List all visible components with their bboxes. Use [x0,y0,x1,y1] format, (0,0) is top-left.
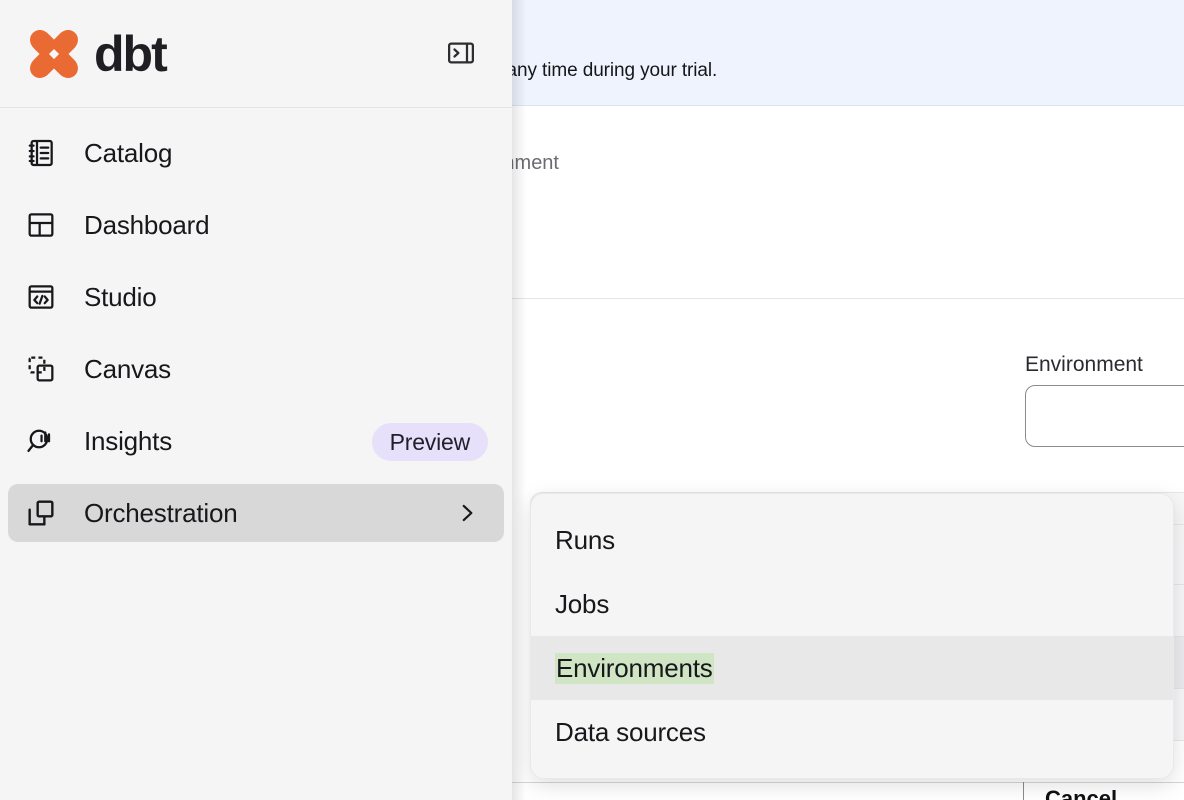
sidebar-nav: Catalog Dashboard [0,108,512,542]
dashboard-icon [24,208,58,242]
orchestration-icon [24,496,58,530]
submenu-item-label: Runs [555,525,615,556]
studio-code-icon [24,280,58,314]
orchestration-submenu: Runs Jobs Environments Data sources [530,493,1174,779]
canvas-icon [24,352,58,386]
footer-divider [1023,782,1024,800]
catalog-icon [24,136,58,170]
chevron-right-icon [454,500,480,526]
submenu-item-environments[interactable]: Environments [531,636,1173,700]
submenu-item-label: Jobs [555,589,609,620]
environment-field-label: Environment [1025,353,1184,377]
app-root: Starter Trial and sign up for a plan at … [0,0,1184,800]
sidebar-item-label: Studio [84,282,157,313]
brand[interactable]: dbt [24,24,166,84]
sidebar-item-insights[interactable]: Insights Preview [8,412,504,470]
sidebar-item-catalog[interactable]: Catalog [8,124,504,182]
insights-icon [24,424,58,458]
submenu-item-label: Environments [555,653,714,684]
sidebar-item-label: Dashboard [84,210,209,241]
sidebar-header: dbt [0,0,512,108]
sidebar: dbt [0,0,512,800]
sidebar-item-studio[interactable]: Studio [8,268,504,326]
brand-wordmark: dbt [94,29,166,79]
sidebar-item-label: Catalog [84,138,172,169]
sidebar-item-label: Orchestration [84,498,237,529]
submenu-item-jobs[interactable]: Jobs [531,572,1173,636]
sidebar-item-dashboard[interactable]: Dashboard [8,196,504,254]
panel-collapse-icon[interactable] [446,38,476,68]
sidebar-item-label: Canvas [84,354,171,385]
sidebar-item-orchestration[interactable]: Orchestration [8,484,504,542]
preview-badge: Preview [372,423,488,461]
sidebar-item-label: Insights [84,426,172,457]
submenu-item-data-sources[interactable]: Data sources [531,700,1173,764]
environment-field-block: Environment [1025,353,1184,447]
submenu-item-runs[interactable]: Runs [531,508,1173,572]
sidebar-item-canvas[interactable]: Canvas [8,340,504,398]
submenu-item-label: Data sources [555,717,706,748]
environment-input[interactable] [1025,385,1184,447]
dbt-logo-icon [24,24,84,84]
cancel-button[interactable]: Cancel [1045,786,1117,800]
